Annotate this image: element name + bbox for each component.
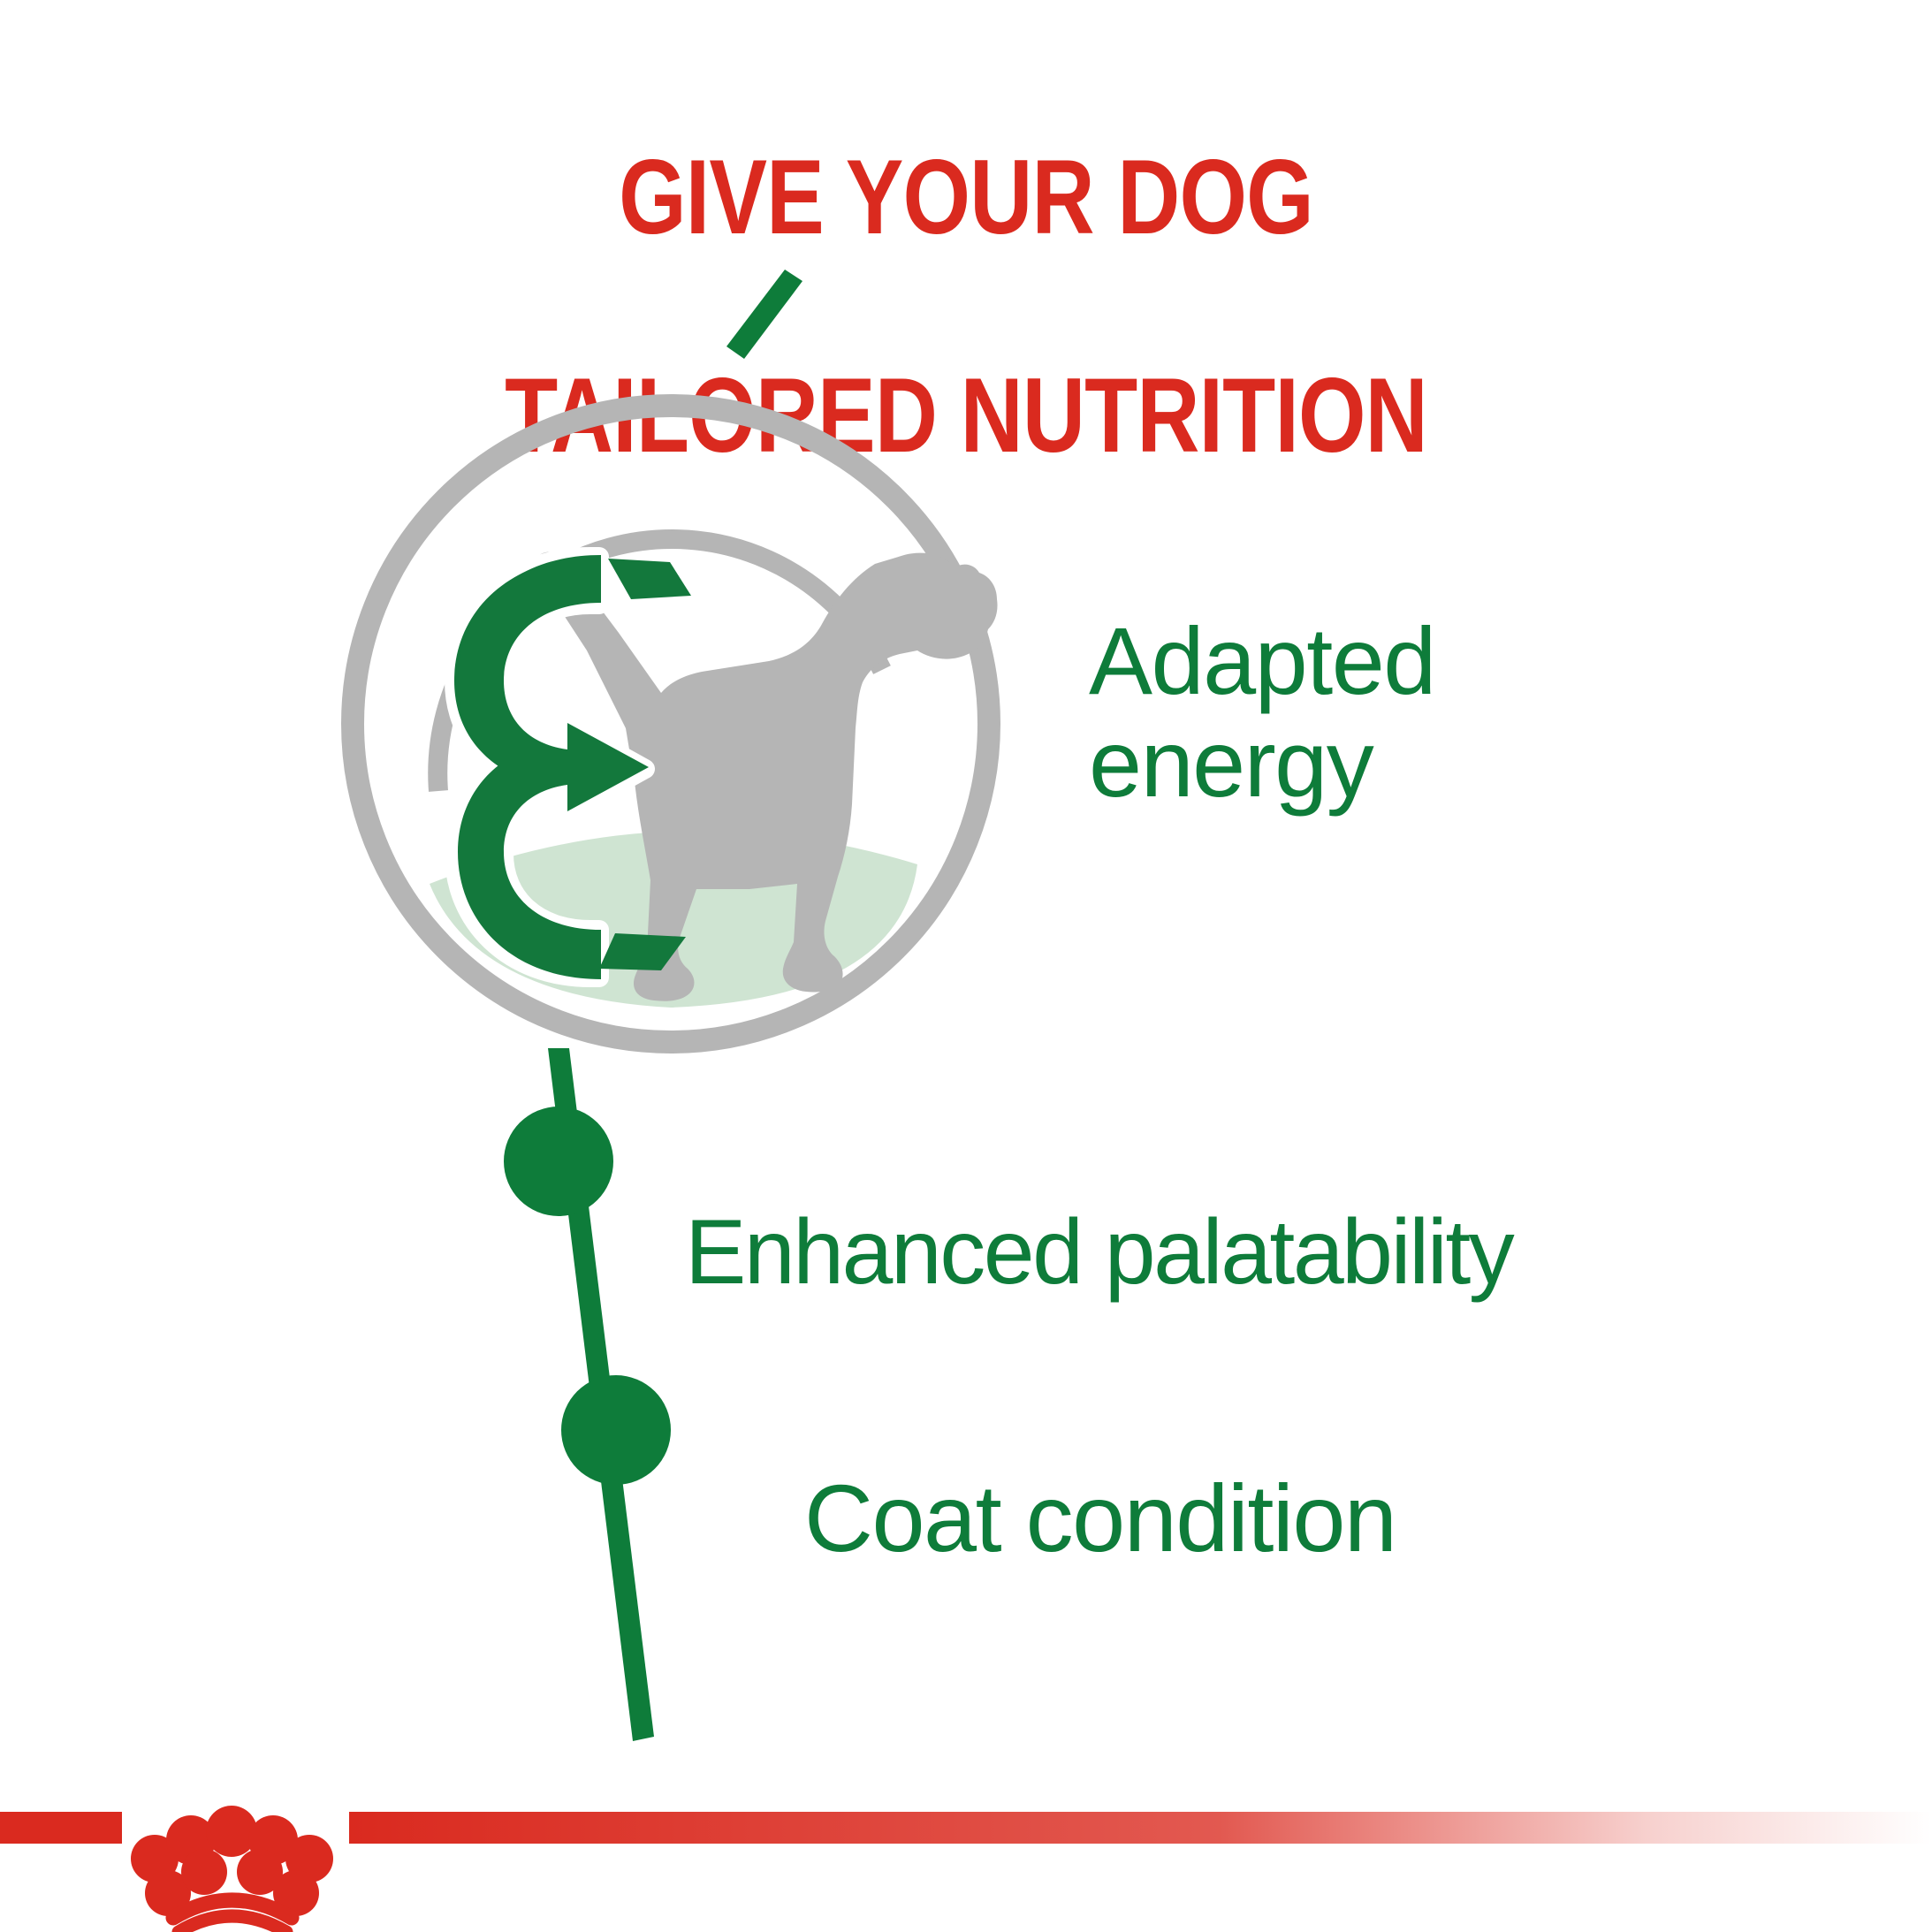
brand-footer: [0, 1768, 1932, 1932]
royal-canin-crown-logo: [131, 1806, 333, 1932]
connector-node-coat: [561, 1375, 671, 1485]
benefit-label-adapted-energy: Adapted energy: [1089, 610, 1867, 814]
adapted-energy-badge: [334, 389, 1008, 1062]
green-tick-mark: [726, 270, 802, 359]
connector-stalk: [548, 1048, 654, 1741]
benefit-label-coat-condition: Coat condition: [804, 1467, 1865, 1570]
footer-bar-left: [0, 1812, 122, 1844]
footer-bar-right: [349, 1812, 1932, 1844]
crown-arc-inner: [179, 1916, 286, 1932]
headline-line-1: GIVE YOUR DOG: [174, 143, 1759, 253]
connector-node-palatability: [504, 1107, 613, 1216]
crown-dot: [206, 1806, 257, 1857]
poster-canvas: GIVE YOUR DOG TAILORED NUTRITION: [0, 0, 1932, 1932]
benefit-label-enhanced-palatability: Enhanced palatability: [685, 1204, 1922, 1302]
crown-dot: [181, 1849, 227, 1895]
